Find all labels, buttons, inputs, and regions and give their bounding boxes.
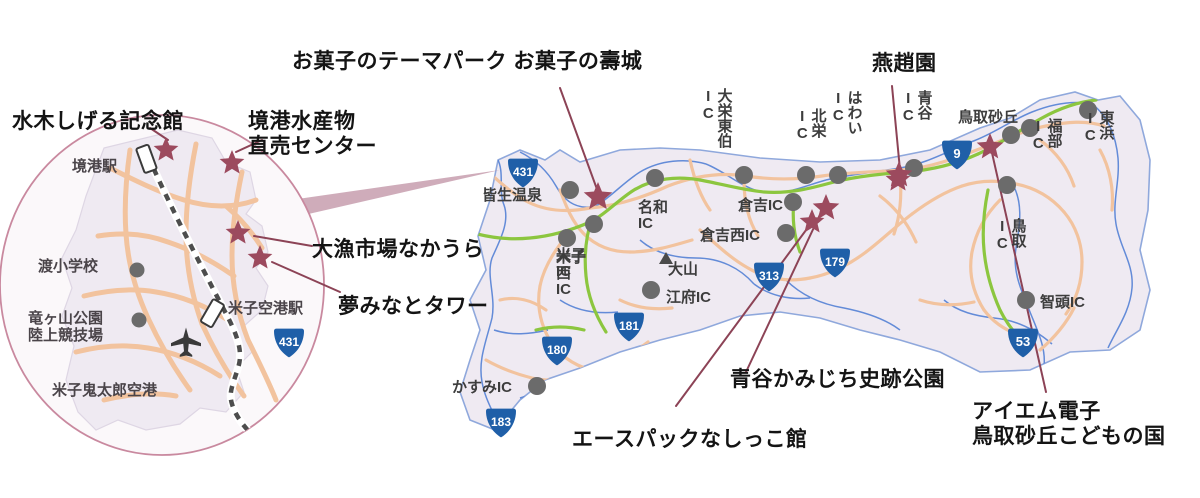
route-shield-183: 183 bbox=[484, 408, 518, 438]
route-shield-181: 181 bbox=[612, 312, 646, 342]
inset-label-sakaiminato-station: 境港駅 bbox=[72, 158, 117, 175]
callout-sakaiminato-fish-center: 境港水産物 直売センター bbox=[248, 110, 377, 160]
inset-label-yonago-airport-station: 米子空港駅 bbox=[228, 300, 303, 317]
label-hokuei-ic: 北栄 IC bbox=[794, 108, 826, 142]
route-shield-431: 431 bbox=[506, 158, 540, 188]
dot-daiei-tohaku-ic bbox=[735, 166, 753, 184]
callout-enchoen: 燕趙園 bbox=[872, 52, 937, 77]
route-shield-number: 183 bbox=[484, 408, 518, 438]
label-nawa-ic: 名和 IC bbox=[638, 200, 668, 232]
route-shield-number: 9 bbox=[940, 140, 974, 170]
label-fukube-ic: 福部 IC bbox=[1030, 118, 1062, 152]
label-kaike-onsen: 皆生温泉 bbox=[482, 188, 542, 204]
label-yonago-nishi-ic: 米子 西 IC bbox=[556, 250, 586, 297]
dot-kaike-onsen bbox=[561, 181, 579, 199]
label-daisen: 大山 bbox=[668, 262, 698, 278]
dot-chizu-ic bbox=[1017, 291, 1035, 309]
route-shield-180: 180 bbox=[540, 336, 574, 366]
label-kurayoshi-nishi-ic: 倉吉西IC bbox=[700, 228, 760, 244]
callout-okashi-no-kotobukijo: お菓子のテーマパーク お菓子の壽城 bbox=[292, 50, 642, 75]
inset-label-tatsugayama-park: 竜ヶ山公園 陸上競技場 bbox=[28, 310, 103, 345]
dot-hokuei-ic bbox=[797, 166, 815, 184]
dot-kurayoshi-ic bbox=[784, 193, 802, 211]
dot-tottori-sakyu-small bbox=[1002, 126, 1020, 144]
label-tottori-ic: 鳥取 IC bbox=[994, 218, 1026, 252]
inset-label-yonago-kitaro-airport: 米子鬼太郎空港 bbox=[52, 382, 157, 399]
route-shield-9: 9 bbox=[940, 140, 974, 170]
label-hawai-ic: はわい IC bbox=[830, 90, 862, 135]
label-kurayoshi-ic: 倉吉IC bbox=[738, 198, 783, 214]
callout-yumeminato-tower: 夢みなとタワー bbox=[338, 295, 489, 320]
route-shield-179: 179 bbox=[818, 248, 852, 278]
route-shield-313: 313 bbox=[752, 262, 786, 292]
dot-watari-elementary bbox=[130, 263, 145, 278]
route-shield-number: 180 bbox=[540, 336, 574, 366]
route-shield-number: 181 bbox=[612, 312, 646, 342]
map-canvas: 水木しげる記念館境港水産物 直売センターお菓子のテーマパーク お菓子の壽城燕趙園… bbox=[0, 0, 1200, 498]
callout-im-denshi-kodomo-no-kuni: アイエム電子 鳥取砂丘こどもの国 bbox=[972, 400, 1166, 450]
label-tottori-sakyu: 鳥取砂丘 bbox=[958, 110, 1018, 126]
label-aoya-ic: 青谷 IC bbox=[900, 90, 932, 124]
dot-yonago-ic bbox=[585, 215, 603, 233]
callout-ace-pack-nashikko-kan: エースパックなしっこ館 bbox=[572, 428, 807, 453]
dot-kurayoshi-nishi-ic bbox=[777, 224, 795, 242]
dot-hawai-ic bbox=[829, 166, 847, 184]
callout-aosumi-shiseki-park: 青谷かみじち史跡公園 bbox=[730, 368, 945, 393]
callout-mizuki-shigeru-memorial: 水木しげる記念館 bbox=[12, 110, 184, 135]
dot-yonago-nishi-ic bbox=[558, 229, 576, 247]
inset-label-watari-elementary: 渡小学校 bbox=[38, 258, 98, 275]
dot-kasumi-ic bbox=[528, 377, 546, 395]
route-shield-53: 53 bbox=[1006, 328, 1040, 358]
route-shield-number: 313 bbox=[752, 262, 786, 292]
dot-tottori-ic bbox=[998, 176, 1016, 194]
route-shield-number: 179 bbox=[818, 248, 852, 278]
route-shield-number: 53 bbox=[1006, 328, 1040, 358]
label-higashihama-ic: 東浜 IC bbox=[1082, 110, 1114, 144]
label-daiei-tohaku-ic: 大栄東伯 IC bbox=[700, 88, 732, 148]
dot-kofu-ic bbox=[642, 281, 660, 299]
route-shield-number: 431 bbox=[506, 158, 540, 188]
label-kasumi-ic: かすみIC bbox=[452, 380, 512, 396]
dot-nawa-ic bbox=[646, 169, 664, 187]
label-chizu-ic: 智頭IC bbox=[1040, 295, 1085, 311]
route-shield-431: 431 bbox=[272, 328, 306, 358]
route-shield-number: 431 bbox=[272, 328, 306, 358]
dot-tatsugayama-park bbox=[132, 313, 147, 328]
callout-tairyo-ichiba-nakaura: 大漁市場なかうら bbox=[312, 238, 484, 263]
label-kofu-ic: 江府IC bbox=[666, 290, 711, 306]
